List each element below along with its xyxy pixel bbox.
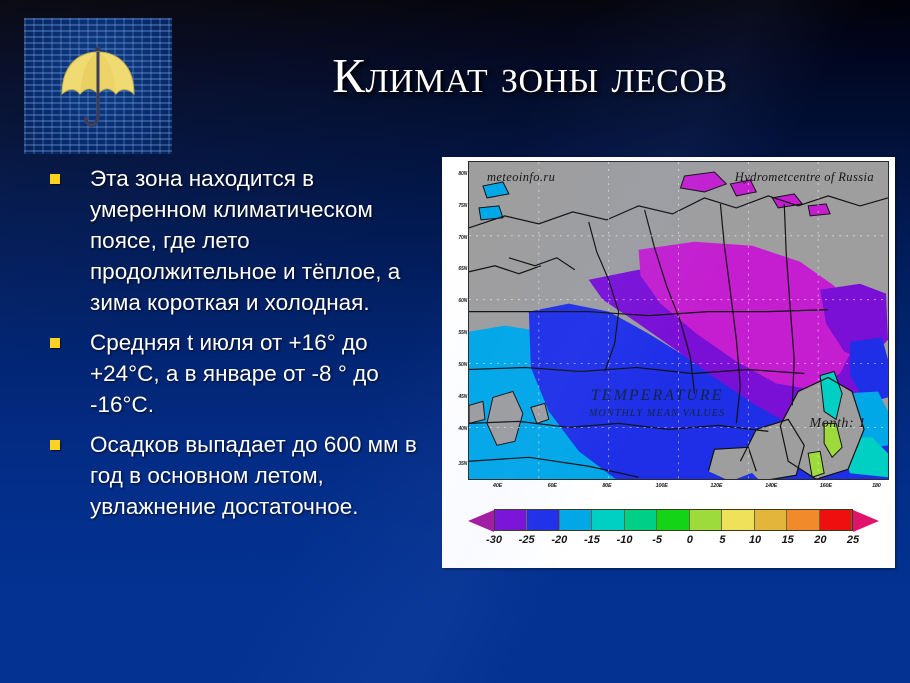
colorbar-segment bbox=[560, 510, 592, 530]
list-item-text: Средняя t июля от +16° до +24°С, а в янв… bbox=[90, 330, 379, 417]
list-item-text: Эта зона находится в умеренном климатиче… bbox=[90, 166, 400, 315]
map-brand-right: Hydrometcentre of Russia bbox=[735, 170, 874, 185]
colorbar-segment bbox=[690, 510, 722, 530]
latitude-axis: 80N 75N 70N 65N 60N 55N 50N 45N 40N 35N bbox=[448, 161, 468, 480]
month-label: Month: 1 bbox=[809, 416, 866, 432]
list-item: Средняя t июля от +16° до +24°С, а в янв… bbox=[44, 327, 434, 420]
colorbar-bands bbox=[494, 509, 853, 531]
temperature-field bbox=[469, 162, 888, 480]
y-tick: 35N bbox=[458, 461, 467, 467]
x-tick: 180 bbox=[872, 483, 881, 489]
map-title-block: TEMPERATURE MONTHLY MEAN VALUES bbox=[589, 387, 725, 419]
colorbar-segment bbox=[787, 510, 819, 530]
slide: Климат зоны лесов Эта зона находится в у… bbox=[0, 0, 910, 683]
x-tick: 100E bbox=[656, 483, 668, 489]
y-tick: 45N bbox=[458, 394, 467, 400]
x-tick: 120E bbox=[710, 483, 722, 489]
colorbar-segment bbox=[820, 510, 852, 530]
y-tick: 75N bbox=[458, 203, 467, 209]
x-tick: 60E bbox=[548, 483, 557, 489]
colorbar-segment bbox=[722, 510, 754, 530]
x-tick: 80E bbox=[602, 483, 611, 489]
bullet-square-icon bbox=[50, 440, 60, 450]
colorbar-above-max-arrow bbox=[853, 510, 879, 532]
colorbar-tick: 15 bbox=[782, 534, 794, 546]
page-title: Климат зоны лесов bbox=[200, 48, 860, 104]
bullet-square-icon bbox=[50, 338, 60, 348]
colorbar-tick: -20 bbox=[551, 534, 567, 546]
colorbar-tick: -30 bbox=[486, 534, 502, 546]
y-tick: 70N bbox=[458, 235, 467, 241]
x-tick: 40E bbox=[493, 483, 502, 489]
colorbar-tick: -10 bbox=[617, 534, 633, 546]
x-tick: 160E bbox=[820, 483, 832, 489]
colorbar-segment bbox=[625, 510, 657, 530]
x-tick: 140E bbox=[765, 483, 777, 489]
y-tick: 80N bbox=[458, 171, 467, 177]
colorbar-segment bbox=[527, 510, 559, 530]
list-item-text: Осадков выпадает до 600 мм в год в основ… bbox=[90, 432, 417, 519]
umbrella-in-rain-image bbox=[24, 18, 172, 154]
bullet-square-icon bbox=[50, 174, 60, 184]
map-canvas: meteoinfo.ru Hydrometcentre of Russia TE… bbox=[468, 161, 889, 480]
y-tick: 60N bbox=[458, 298, 467, 304]
y-tick: 50N bbox=[458, 362, 467, 368]
colorbar-tick: -15 bbox=[584, 534, 600, 546]
colorbar-below-min-arrow bbox=[468, 510, 494, 532]
colorbar-tick: 20 bbox=[814, 534, 826, 546]
list-item: Эта зона находится в умеренном климатиче… bbox=[44, 163, 434, 318]
map-title: TEMPERATURE bbox=[589, 387, 725, 405]
colorbar-tick: -5 bbox=[652, 534, 662, 546]
y-tick: 65N bbox=[458, 266, 467, 272]
umbrella-icon bbox=[24, 18, 172, 154]
colorbar-tick: -25 bbox=[519, 534, 535, 546]
longitude-axis: 40E 60E 80E 100E 120E 140E 160E 180 bbox=[468, 480, 889, 496]
colorbar-segment bbox=[592, 510, 624, 530]
colorbar: -30 -25 -20 -15 -10 -5 0 5 10 15 20 25 bbox=[468, 509, 879, 561]
map-brand-left: meteoinfo.ru bbox=[487, 170, 555, 185]
y-tick: 40N bbox=[458, 426, 467, 432]
temperature-map-figure: 80N 75N 70N 65N 60N 55N 50N 45N 40N 35N bbox=[442, 157, 895, 568]
colorbar-segment bbox=[657, 510, 689, 530]
list-item: Осадков выпадает до 600 мм в год в основ… bbox=[44, 429, 434, 522]
y-tick: 55N bbox=[458, 330, 467, 336]
colorbar-tick: 25 bbox=[847, 534, 859, 546]
colorbar-tick: 5 bbox=[719, 534, 725, 546]
colorbar-ticks: -30 -25 -20 -15 -10 -5 0 5 10 15 20 25 bbox=[494, 534, 853, 554]
colorbar-segment bbox=[495, 510, 527, 530]
map-subtitle: MONTHLY MEAN VALUES bbox=[589, 408, 725, 419]
colorbar-tick: 10 bbox=[749, 534, 761, 546]
colorbar-segment bbox=[755, 510, 787, 530]
bullet-list: Эта зона находится в умеренном климатиче… bbox=[44, 163, 434, 531]
map-plot-area: 80N 75N 70N 65N 60N 55N 50N 45N 40N 35N bbox=[446, 161, 891, 498]
colorbar-tick: 0 bbox=[687, 534, 693, 546]
